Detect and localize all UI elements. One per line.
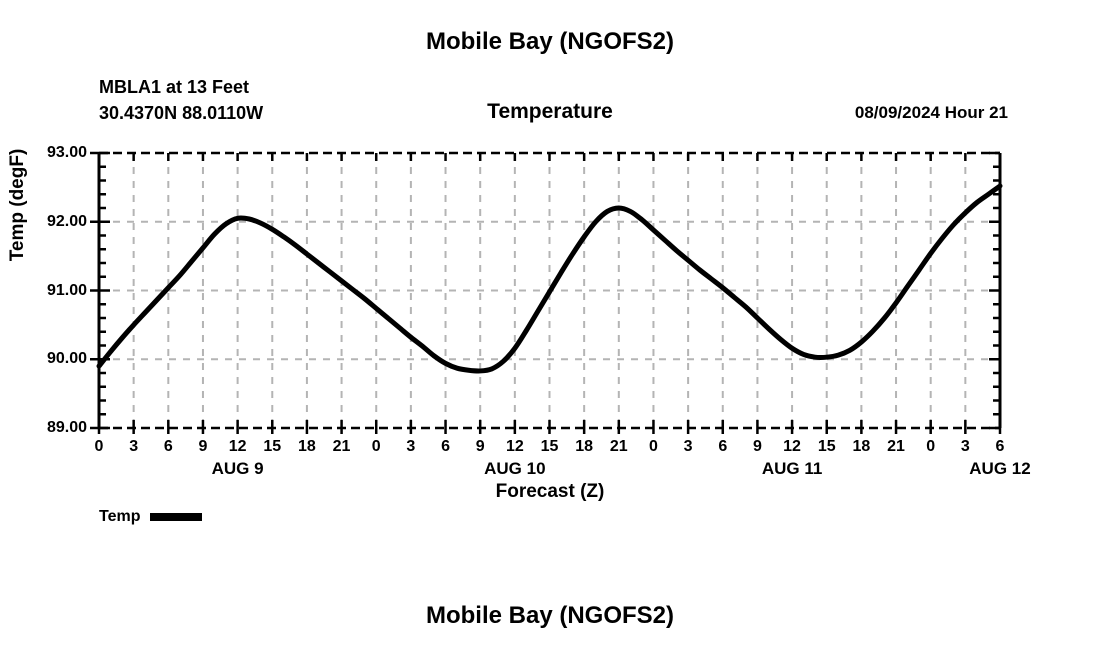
plot-area: [0, 0, 1100, 650]
chart-legend: Temp: [99, 508, 202, 526]
y-tick-label: 92.00: [7, 213, 87, 231]
x-day-label: AUG 10: [445, 459, 585, 479]
chart-page: Mobile Bay (NGOFS2) MBLA1 at 13 Feet 30.…: [0, 0, 1100, 650]
legend-label: Temp: [99, 508, 140, 526]
x-day-label: AUG 9: [168, 459, 308, 479]
chart-svg: [0, 0, 1100, 650]
y-tick-label: 89.00: [7, 419, 87, 437]
x-day-label: AUG 12: [930, 459, 1070, 479]
y-tick-label: 90.00: [7, 350, 87, 368]
x-day-label: AUG 11: [722, 459, 862, 479]
page-title-bottom: Mobile Bay (NGOFS2): [0, 602, 1100, 630]
x-tick-label: 6: [980, 438, 1020, 456]
y-tick-label: 93.00: [7, 144, 87, 162]
y-tick-label: 91.00: [7, 282, 87, 300]
legend-swatch: [150, 513, 202, 521]
